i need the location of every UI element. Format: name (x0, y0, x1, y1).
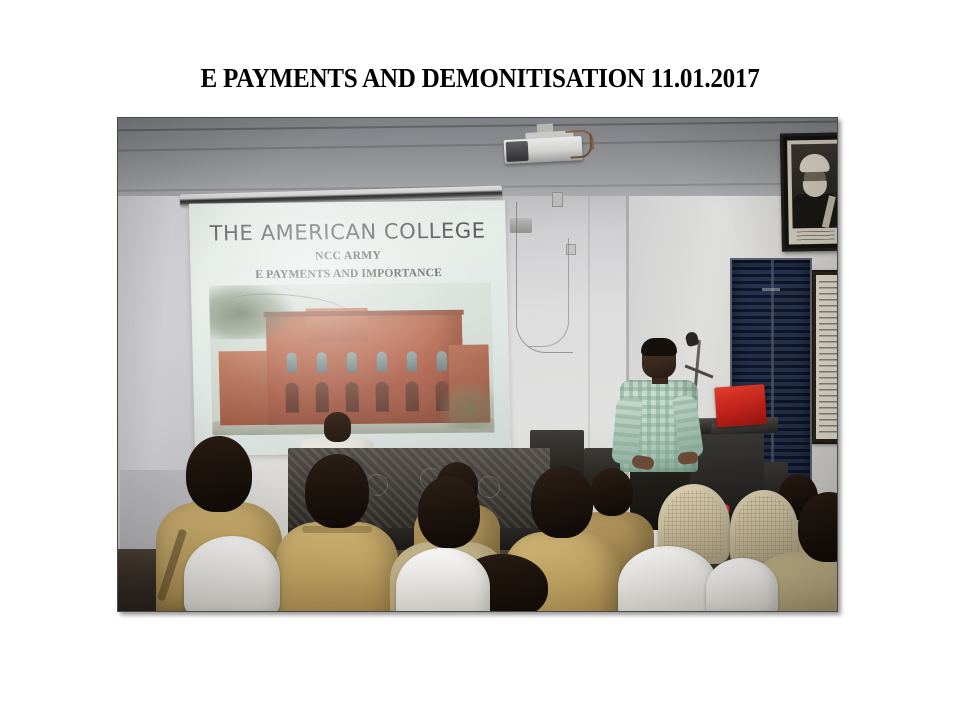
audience-head (418, 476, 480, 548)
ceiling-projector (503, 128, 585, 166)
wall-seam (588, 176, 590, 466)
honour-board-panel (816, 275, 837, 439)
building-window (407, 351, 417, 371)
portrait-turban (799, 154, 829, 173)
chair-back (396, 548, 490, 611)
chair (706, 558, 778, 611)
photo-scene: THE AMERICAN COLLEGE NCC ARMY E PAYMENTS… (118, 118, 837, 611)
ceiling-line (118, 138, 837, 151)
page-title: E PAYMENTS AND DEMONITISATION 11.01.2017 (34, 62, 927, 94)
chair-back (618, 546, 718, 611)
honour-board-text-lines (819, 281, 837, 433)
event-photograph: THE AMERICAN COLLEGE NCC ARMY E PAYMENTS… (117, 117, 838, 612)
audience-head (186, 436, 252, 512)
building-arch (285, 383, 299, 413)
building-window (317, 352, 327, 372)
projector-lens (506, 141, 529, 162)
chair-back (184, 536, 280, 611)
audience-head (798, 492, 837, 562)
window-handle (762, 288, 780, 291)
building-arch (345, 382, 359, 412)
audience-member (276, 454, 398, 611)
building-window (347, 352, 357, 372)
audience-head (305, 454, 369, 528)
framed-portrait (780, 132, 837, 251)
wall-cable (528, 238, 569, 347)
ceiling (118, 118, 837, 196)
chair-back (706, 558, 778, 611)
building-window (437, 351, 447, 371)
building-arch (375, 382, 389, 412)
chair (618, 546, 718, 611)
portrait-image (791, 144, 837, 229)
laptop (708, 384, 767, 438)
framed-honour-board (811, 270, 837, 444)
portrait-mat (787, 140, 837, 245)
white-shirt-head (324, 412, 351, 442)
building-bush (439, 382, 494, 429)
building-arch (405, 381, 419, 411)
chair (396, 548, 490, 611)
ceiling-line (118, 121, 837, 132)
audience-head (531, 466, 593, 538)
building-window (287, 353, 297, 373)
slide-subheading-2: E PAYMENTS AND IMPORTANCE (191, 266, 507, 281)
slide-subheading-1: NCC ARMY (190, 248, 506, 263)
laptop-lid (714, 384, 767, 427)
presenter-hair (641, 338, 677, 356)
portrait-caption (797, 231, 835, 241)
building-window (377, 352, 387, 372)
audience-torso (276, 522, 398, 611)
building-arch (315, 382, 329, 412)
slide-heading: THE AMERICAN COLLEGE (189, 218, 506, 245)
chair (184, 536, 280, 611)
